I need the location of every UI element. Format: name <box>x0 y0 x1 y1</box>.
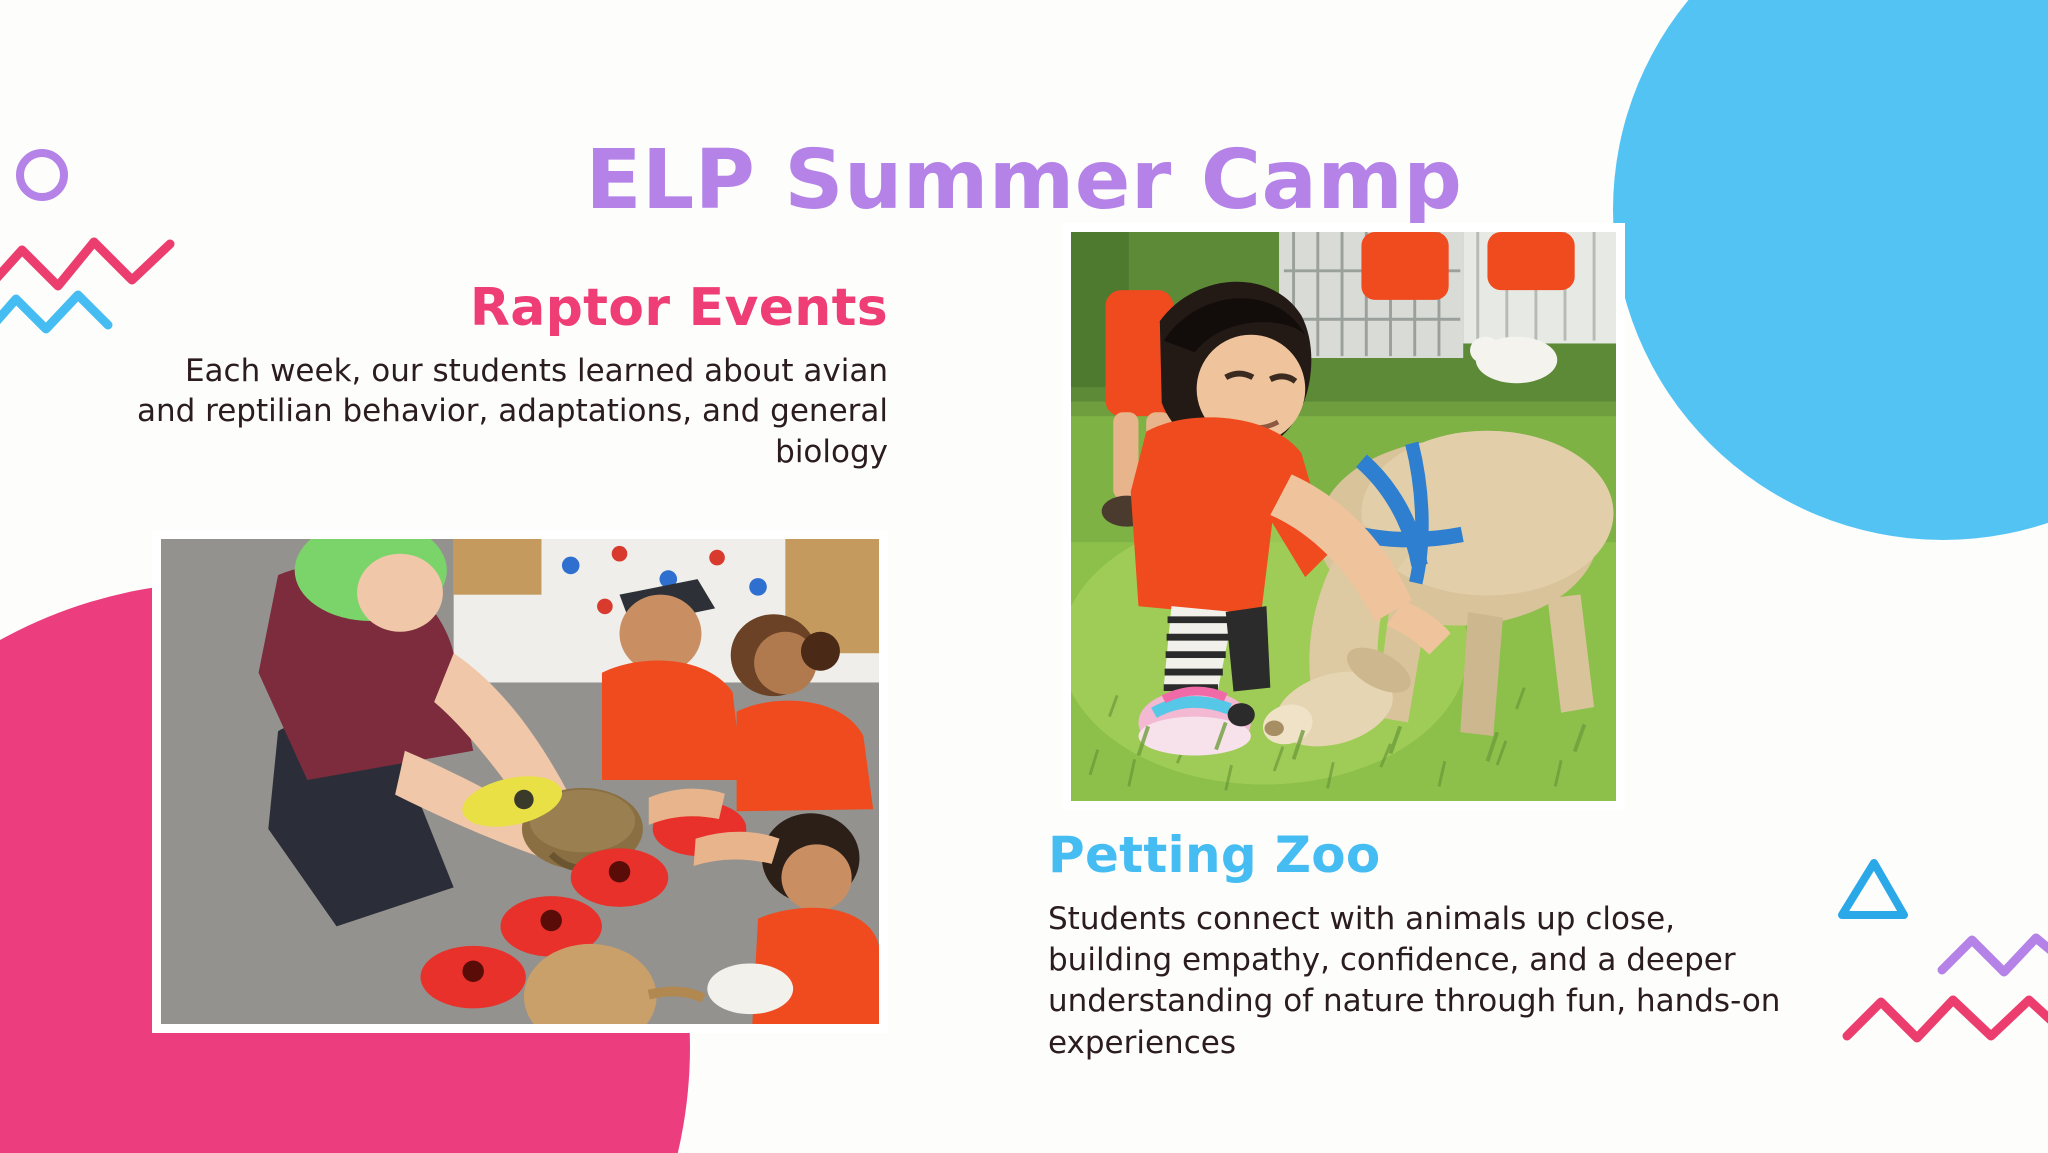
raptor-events-photo <box>152 530 888 1033</box>
raptor-events-section: Raptor Events Each week, our students le… <box>120 280 888 472</box>
petting-zoo-section: Petting Zoo Students connect with animal… <box>1048 828 1788 1064</box>
pink-zigzag-bottom-right-icon <box>1843 990 2048 1046</box>
purple-zigzag-bottom-right-icon <box>1938 930 2048 980</box>
blue-zigzag-top-left-icon <box>0 285 114 341</box>
petting-zoo-photo <box>1062 223 1625 810</box>
raptor-events-heading: Raptor Events <box>120 280 888 337</box>
blue-circle-decoration <box>1613 0 2048 540</box>
blue-triangle-outline-icon <box>1834 855 1910 923</box>
page-title: ELP Summer Camp <box>0 133 2048 228</box>
petting-zoo-heading: Petting Zoo <box>1048 828 1788 883</box>
slide-canvas: ELP Summer Camp Raptor Events Each week,… <box>0 0 2048 1153</box>
petting-zoo-photo-illustration <box>1071 232 1616 801</box>
petting-zoo-body: Students connect with animals up close, … <box>1048 899 1788 1064</box>
raptor-photo-illustration <box>161 539 879 1024</box>
raptor-events-body: Each week, our students learned about av… <box>120 351 888 472</box>
